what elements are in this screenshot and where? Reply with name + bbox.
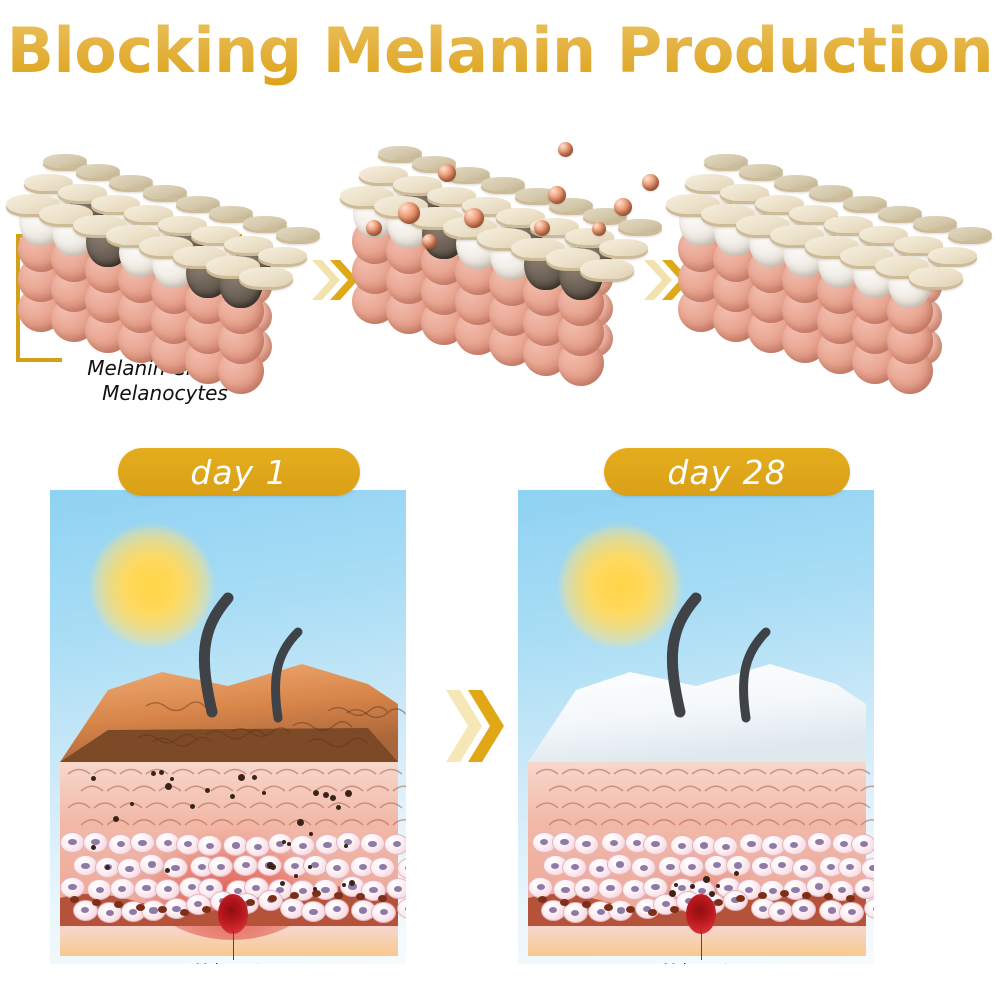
stratum-corneum-plate <box>948 227 992 241</box>
keratinocyte <box>384 834 406 855</box>
stratum-corneum-plate <box>276 227 320 241</box>
panel-day-1: Melanocytes <box>50 490 406 964</box>
basal-nucleus <box>378 895 387 902</box>
basal-nucleus <box>290 892 299 899</box>
keratinocyte <box>782 834 807 855</box>
melanocyte-label: Melanocytes <box>160 960 310 964</box>
keratinocyte <box>325 858 350 879</box>
keratinocyte <box>838 857 863 878</box>
stratum-corneum-plate <box>878 206 922 220</box>
melanocyte-pointer-line <box>233 930 234 960</box>
basal-nucleus <box>846 895 855 902</box>
active-ingredient-particle <box>534 220 550 236</box>
stratum-corneum-plate <box>258 247 307 264</box>
melanin-granule <box>674 883 678 887</box>
active-ingredient-particle <box>422 234 437 249</box>
stratum-corneum-plate <box>618 219 662 233</box>
stratum-corneum-plate <box>809 185 853 199</box>
skin-surface-shadow <box>60 728 398 762</box>
melanin-granule <box>716 884 720 888</box>
active-ingredient-particle <box>366 220 382 236</box>
melanin-granule <box>709 891 715 897</box>
melanin-granule <box>270 864 276 870</box>
keratinocyte <box>643 834 668 855</box>
melanin-granule <box>105 865 110 870</box>
melanin-granule <box>734 871 739 876</box>
melanin-granule <box>294 874 298 878</box>
melanocyte-pointer-line <box>701 930 702 960</box>
stratum-corneum-plate <box>739 164 783 178</box>
basal-nucleus <box>560 899 569 906</box>
basal-nucleus <box>758 892 767 899</box>
page-title: Blocking Melanin Production <box>0 14 1000 87</box>
basal-nucleus <box>334 892 343 899</box>
stratum-corneum-plate <box>599 239 648 256</box>
basal-nucleus <box>714 899 723 906</box>
basal-nucleus <box>246 899 255 906</box>
caption-line-2: Melanocytes <box>0 381 330 406</box>
keratinocyte <box>770 855 795 876</box>
keratinocyte <box>791 899 816 920</box>
keratinocyte <box>110 878 135 899</box>
keratinocyte <box>336 832 361 853</box>
melanin-granule <box>91 845 96 850</box>
keratinocyte <box>73 855 98 876</box>
melanin-granule <box>349 880 355 886</box>
basal-nucleus <box>802 892 811 899</box>
stratum-corneum-plate <box>481 177 525 191</box>
infographic-root: Blocking Melanin Production Melanin Clus… <box>0 0 1000 1000</box>
active-ingredient-particle <box>642 174 659 191</box>
stratum-corneum-plate <box>580 259 634 279</box>
active-ingredient-particle <box>398 202 420 224</box>
melanocyte <box>218 894 248 934</box>
melanin-granule <box>238 774 245 781</box>
active-ingredient-particle <box>592 222 606 236</box>
stratum-corneum-plate <box>143 185 187 199</box>
basal-nucleus <box>356 893 365 900</box>
keratinocyte <box>83 832 108 853</box>
cell-block-step-active-ingredient <box>352 160 640 420</box>
keratinocyte <box>528 877 553 898</box>
stratum-corneum-plate <box>774 175 818 189</box>
melanin-granule <box>313 790 319 796</box>
stratum-corneum-plate <box>928 247 977 264</box>
keratinocyte <box>233 855 258 876</box>
stratum-corneum-plate <box>909 267 963 287</box>
basal-nucleus <box>136 904 145 911</box>
cell-block-step-melanin-blocked <box>678 168 970 420</box>
melanin-granule <box>130 802 134 806</box>
basal-nucleus <box>604 904 613 911</box>
basal-nucleus <box>824 893 833 900</box>
melanin-granule <box>262 791 266 795</box>
basal-nucleus <box>202 906 211 913</box>
keratinocyte <box>574 878 599 899</box>
melanin-granule <box>190 804 195 809</box>
keratinocyte <box>60 877 85 898</box>
keratinocyte <box>60 832 85 853</box>
stratum-corneum-plate <box>843 196 887 210</box>
keratinocyte <box>371 902 396 923</box>
active-ingredient-particle <box>614 198 632 216</box>
keratinocyte <box>324 899 349 920</box>
skin-surface-top <box>528 664 866 762</box>
basal-nucleus <box>780 890 789 897</box>
melanocyte-label: Melanocytes <box>628 960 778 964</box>
keratinocyte <box>807 832 832 853</box>
stratum-corneum-plate <box>239 267 293 287</box>
basal-nucleus <box>92 899 101 906</box>
melanin-granule <box>313 887 317 891</box>
panel-day-28: Melanocytes <box>518 490 874 964</box>
stratum-corneum-plate <box>913 216 957 230</box>
melanin-granule <box>703 876 710 883</box>
double-chevron-right-icon <box>440 680 510 772</box>
basal-nucleus <box>670 906 679 913</box>
keratinocyte <box>303 855 328 876</box>
basal-nucleus <box>648 909 657 916</box>
badge-day-28: day 28 <box>604 448 850 496</box>
melanocyte <box>686 894 716 934</box>
keratinocyte <box>839 902 864 923</box>
basal-nucleus <box>312 890 321 897</box>
keratinocyte <box>574 834 599 855</box>
keratinocyte <box>792 858 817 879</box>
melanin-granule <box>165 783 172 790</box>
active-ingredient-particle <box>438 164 456 182</box>
melanin-granule <box>280 881 285 886</box>
stratum-corneum-plate <box>704 154 748 168</box>
keratinocyte <box>598 878 623 899</box>
active-ingredient-particle <box>558 142 573 157</box>
melanin-granule <box>323 792 329 798</box>
melanin-granule <box>669 890 676 897</box>
melanin-granule <box>113 816 119 822</box>
active-ingredient-particle <box>548 186 566 204</box>
active-ingredient-particle <box>464 208 484 228</box>
keratinocyte <box>851 834 874 855</box>
badge-day-1: day 1 <box>118 448 360 496</box>
keratinocyte <box>607 854 632 875</box>
stratum-corneum-plate <box>243 216 287 230</box>
basal-nucleus <box>180 909 189 916</box>
